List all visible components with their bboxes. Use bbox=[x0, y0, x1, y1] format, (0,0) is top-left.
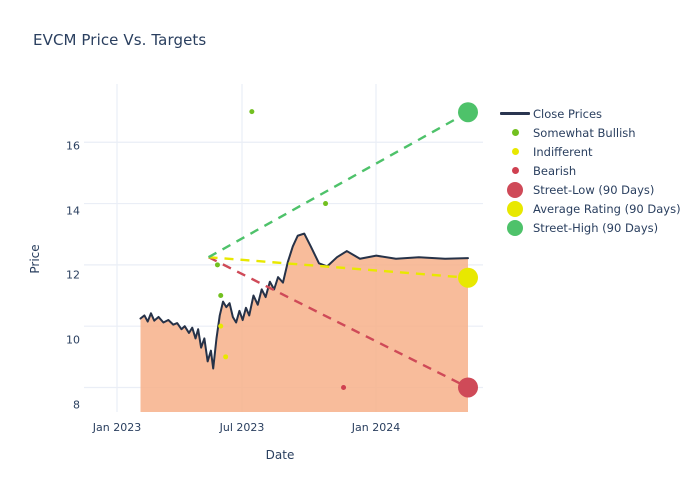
chart-canvas: EVCM Price Vs. Targets Price Date 16 14 … bbox=[0, 0, 700, 500]
x-tick-label: Jan 2024 bbox=[352, 421, 400, 434]
legend-item-indifferent[interactable]: Indifferent bbox=[497, 142, 681, 161]
y-tick-label: 14 bbox=[40, 204, 80, 217]
bearish-dot-icon bbox=[497, 167, 533, 174]
indifferent-dot-icon bbox=[497, 148, 533, 155]
average-rating-dot-icon bbox=[497, 201, 533, 217]
y-tick-label: 10 bbox=[40, 334, 80, 347]
chart-legend: Close Prices Somewhat Bullish Indifferen… bbox=[497, 104, 681, 237]
target-marker[interactable] bbox=[458, 102, 478, 122]
legend-item-street-low[interactable]: Street-Low (90 Days) bbox=[497, 180, 681, 199]
y-axis-ticks: 16 14 12 10 8 bbox=[40, 0, 80, 500]
close-prices-line-icon bbox=[497, 112, 533, 115]
x-tick-label: Jul 2023 bbox=[220, 421, 265, 434]
legend-item-somewhat-bullish[interactable]: Somewhat Bullish bbox=[497, 123, 681, 142]
rating-point[interactable] bbox=[323, 201, 328, 206]
legend-label: Street-High (90 Days) bbox=[533, 221, 658, 235]
legend-item-bearish[interactable]: Bearish bbox=[497, 161, 681, 180]
legend-label: Somewhat Bullish bbox=[533, 126, 636, 140]
target-projection-line bbox=[209, 112, 468, 257]
rating-point[interactable] bbox=[249, 109, 254, 114]
target-marker[interactable] bbox=[458, 377, 478, 397]
y-tick-label: 16 bbox=[40, 140, 80, 153]
rating-point[interactable] bbox=[218, 324, 223, 329]
legend-item-close-prices[interactable]: Close Prices bbox=[497, 104, 681, 123]
rating-point[interactable] bbox=[341, 385, 346, 390]
rating-point[interactable] bbox=[215, 262, 220, 267]
rating-point[interactable] bbox=[218, 293, 223, 298]
legend-item-street-high[interactable]: Street-High (90 Days) bbox=[497, 218, 681, 237]
street-high-dot-icon bbox=[497, 220, 533, 236]
legend-label: Bearish bbox=[533, 164, 576, 178]
legend-item-average-rating[interactable]: Average Rating (90 Days) bbox=[497, 199, 681, 218]
rating-point[interactable] bbox=[223, 354, 228, 359]
y-tick-label: 8 bbox=[40, 399, 80, 412]
legend-label: Indifferent bbox=[533, 145, 593, 159]
y-tick-label: 12 bbox=[40, 269, 80, 282]
legend-label: Street-Low (90 Days) bbox=[533, 183, 654, 197]
legend-label: Average Rating (90 Days) bbox=[533, 202, 681, 216]
target-marker[interactable] bbox=[458, 268, 478, 288]
street-low-dot-icon bbox=[497, 182, 533, 198]
x-axis-title: Date bbox=[85, 448, 475, 462]
legend-label: Close Prices bbox=[533, 107, 602, 121]
x-tick-label: Jan 2023 bbox=[93, 421, 141, 434]
somewhat-bullish-dot-icon bbox=[497, 129, 533, 136]
close-price-area bbox=[141, 234, 469, 412]
